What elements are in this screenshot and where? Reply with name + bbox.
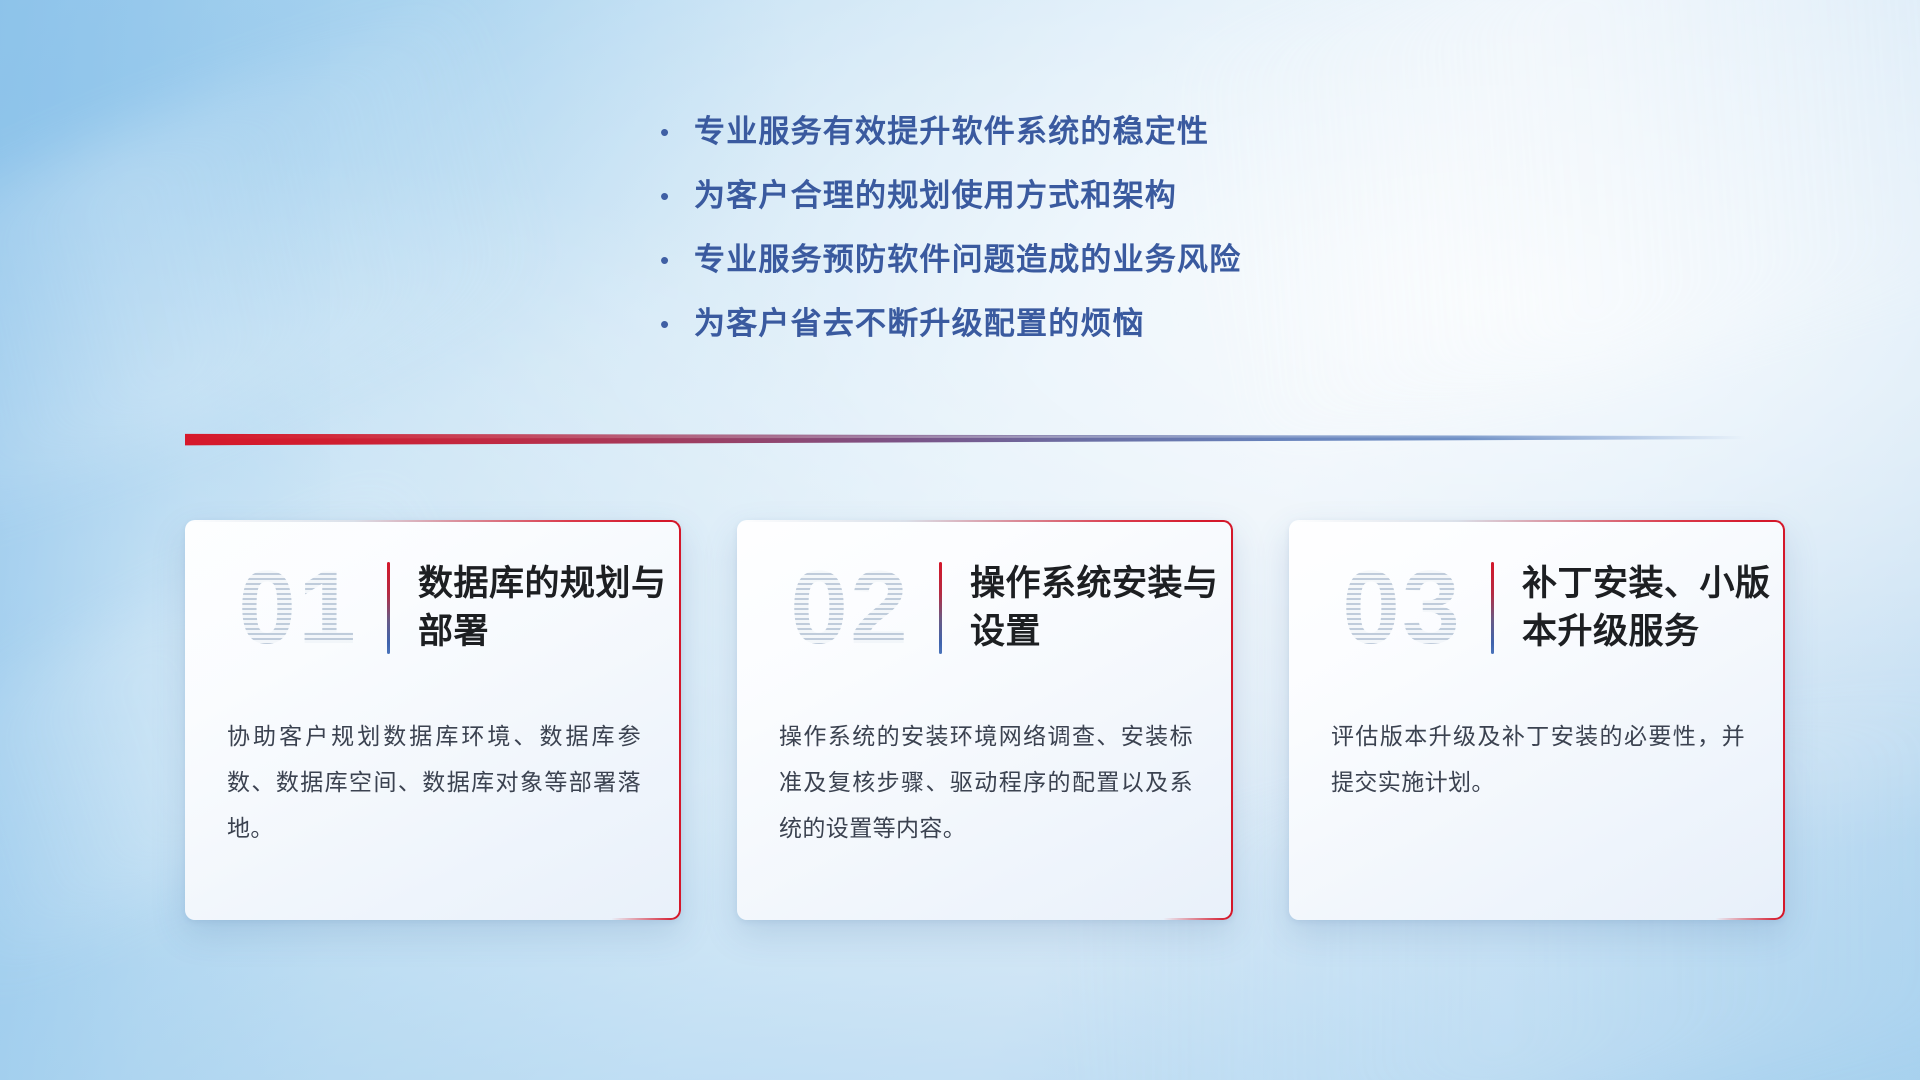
slide-canvas: • 专业服务有效提升软件系统的稳定性 • 为客户合理的规划使用方式和架构 • 专… <box>0 0 1920 1080</box>
bullet-item: • 专业服务预防软件问题造成的业务风险 <box>660 236 1760 300</box>
card-title: 操作系统安装与设置 <box>970 560 1230 656</box>
card-description: 操作系统的安装环境网络调查、安装标准及复核步骤、驱动程序的配置以及系统的设置等内… <box>779 713 1193 851</box>
card-title-divider-icon <box>387 562 390 654</box>
bullet-dot-icon: • <box>660 300 694 348</box>
card-title: 补丁安装、小版本升级服务 <box>1522 560 1782 656</box>
card-number-watermark: 03 <box>1317 556 1487 660</box>
bullet-item-text: 为客户合理的规划使用方式和架构 <box>694 172 1177 220</box>
benefits-bullet-list: • 专业服务有效提升软件系统的稳定性 • 为客户合理的规划使用方式和架构 • 专… <box>660 108 1760 364</box>
service-card-01[interactable]: 01 数据库的规划与部署 协助客户规划数据库环境、数据库参数、数据库空间、数据库… <box>185 520 681 920</box>
bullet-dot-icon: • <box>660 108 694 156</box>
bullet-item: • 为客户合理的规划使用方式和架构 <box>660 172 1760 236</box>
card-number-watermark: 02 <box>765 556 935 660</box>
bullet-dot-icon: • <box>660 236 694 284</box>
card-title-divider-icon <box>939 562 942 654</box>
card-header: 03 补丁安装、小版本升级服务 <box>1289 520 1785 695</box>
card-header: 01 数据库的规划与部署 <box>185 520 681 695</box>
card-description: 评估版本升级及补丁安装的必要性，并提交实施计划。 <box>1331 713 1745 805</box>
card-title: 数据库的规划与部署 <box>418 560 678 656</box>
section-divider <box>185 424 1745 450</box>
card-description: 协助客户规划数据库环境、数据库参数、数据库空间、数据库对象等部署落地。 <box>227 713 641 851</box>
service-card-03[interactable]: 03 补丁安装、小版本升级服务 评估版本升级及补丁安装的必要性，并提交实施计划。 <box>1289 520 1785 920</box>
bullet-dot-icon: • <box>660 172 694 220</box>
service-card-list: 01 数据库的规划与部署 协助客户规划数据库环境、数据库参数、数据库空间、数据库… <box>185 520 1785 920</box>
bullet-item-text: 为客户省去不断升级配置的烦恼 <box>694 300 1145 348</box>
section-divider-highlight <box>185 424 1745 450</box>
card-header: 02 操作系统安装与设置 <box>737 520 1233 695</box>
bullet-item-text: 专业服务预防软件问题造成的业务风险 <box>694 236 1241 284</box>
section-divider-bar <box>185 424 1745 450</box>
card-title-divider-icon <box>1491 562 1494 654</box>
bullet-item: • 专业服务有效提升软件系统的稳定性 <box>660 108 1760 172</box>
service-card-02[interactable]: 02 操作系统安装与设置 操作系统的安装环境网络调查、安装标准及复核步骤、驱动程… <box>737 520 1233 920</box>
bullet-item-text: 专业服务有效提升软件系统的稳定性 <box>694 108 1209 156</box>
bullet-item: • 为客户省去不断升级配置的烦恼 <box>660 300 1760 364</box>
card-number-watermark: 01 <box>213 556 383 660</box>
background-streak-top-left <box>0 0 570 544</box>
